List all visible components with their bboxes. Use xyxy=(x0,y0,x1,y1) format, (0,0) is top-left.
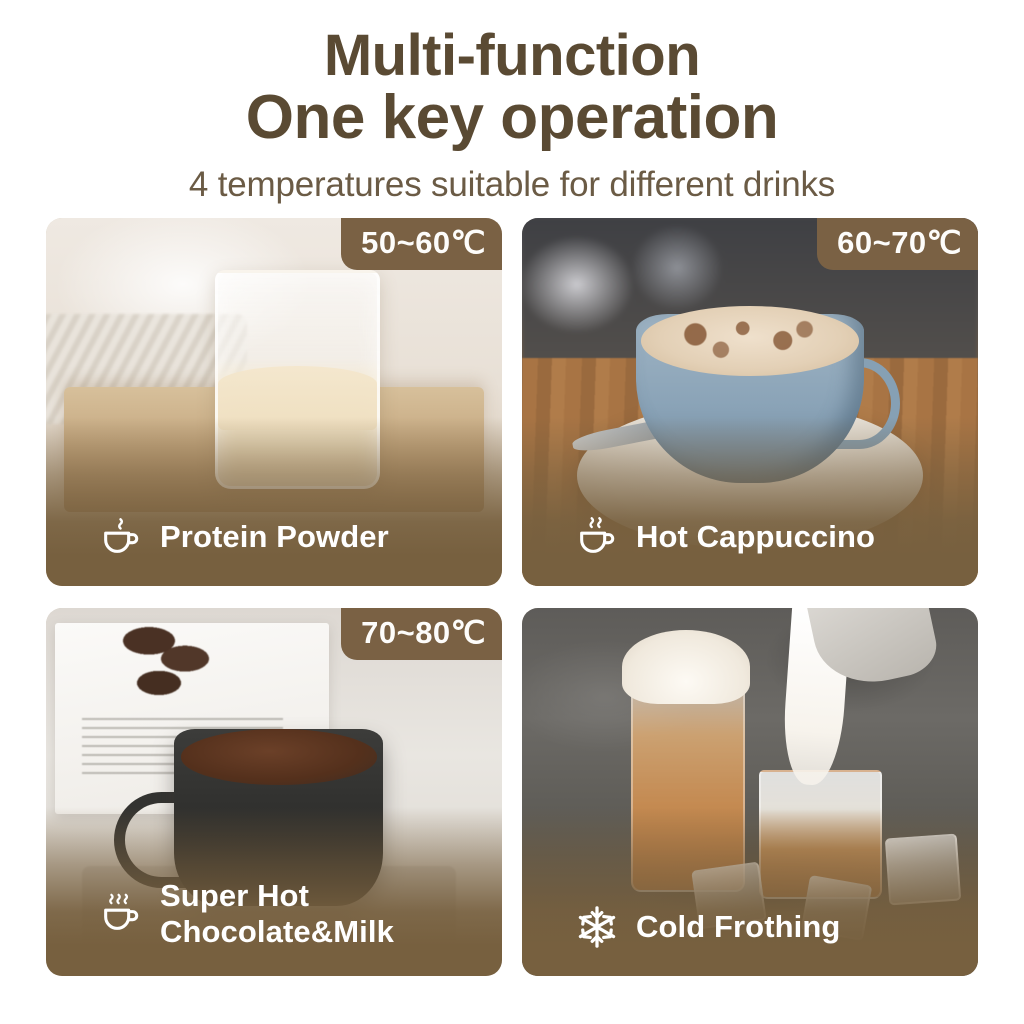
card-caption: Hot Cappuccino xyxy=(522,417,978,586)
header: Multi-function One key operation 4 tempe… xyxy=(0,0,1024,205)
photo-chocolate-liquid xyxy=(181,729,377,784)
steaming-cup-icon xyxy=(98,891,144,937)
card-caption: Cold Frothing xyxy=(522,807,978,976)
card-label: Cold Frothing xyxy=(636,909,840,945)
headline-line-2: One key operation xyxy=(0,86,1024,150)
temperature-badge: 60~70℃ xyxy=(817,218,978,270)
steaming-cup-icon xyxy=(98,514,144,560)
feature-card-protein-powder[interactable]: 50~60℃ Protein Powder xyxy=(46,218,502,586)
photo-coffee-beans xyxy=(119,623,219,704)
headline-line-1: Multi-function xyxy=(0,26,1024,86)
snowflake-icon xyxy=(574,904,620,950)
feature-card-hot-cappuccino[interactable]: 60~70℃ Hot Cappuccino xyxy=(522,218,978,586)
feature-card-super-hot-chocolate-milk[interactable]: 70~80℃ Super Hot Chocolate&Milk xyxy=(46,608,502,976)
photo-whipped-cream xyxy=(622,630,750,704)
steaming-cup-icon xyxy=(574,514,620,560)
subtitle: 4 temperatures suitable for different dr… xyxy=(0,165,1024,205)
card-caption: Super Hot Chocolate&Milk xyxy=(46,807,502,976)
temperature-badge: 70~80℃ xyxy=(341,608,502,660)
photo-cocoa-dusting xyxy=(659,314,841,366)
product-feature-page: Multi-function One key operation 4 tempe… xyxy=(0,0,1024,1024)
feature-card-cold-frothing[interactable]: Cold Frothing xyxy=(522,608,978,976)
card-caption: Protein Powder xyxy=(46,417,502,586)
temperature-badge: 50~60℃ xyxy=(341,218,502,270)
card-label: Super Hot Chocolate&Milk xyxy=(160,878,394,950)
card-label: Hot Cappuccino xyxy=(636,519,875,555)
card-label: Protein Powder xyxy=(160,519,389,555)
feature-card-grid: 50~60℃ Protein Powder xyxy=(46,218,978,976)
